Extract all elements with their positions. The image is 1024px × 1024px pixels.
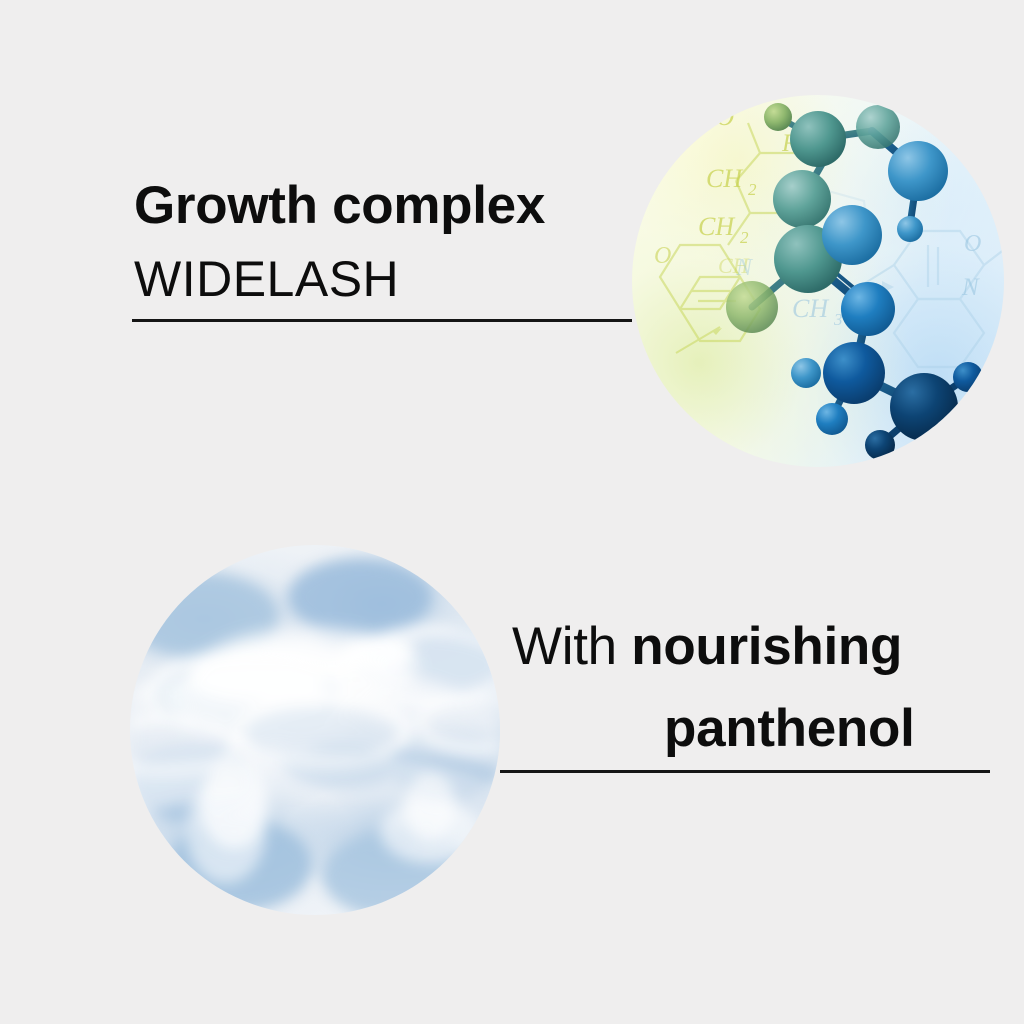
molecule-atoms — [726, 103, 983, 460]
svg-text:CH: CH — [698, 212, 735, 241]
svg-text:N: N — [735, 255, 754, 281]
headline-word-panthenol: panthenol — [664, 700, 915, 758]
lab-image-circle — [130, 545, 500, 915]
svg-text:O: O — [964, 231, 981, 257]
page-title-growth-complex: Growth complex — [134, 178, 545, 234]
molecule-image-circle: CH2 CH2 N O R' O CH CH3 — [632, 95, 1004, 467]
molecule-icon: CH2 CH2 N O R' O CH CH3 — [632, 95, 1004, 467]
svg-text:O: O — [654, 243, 671, 269]
headline-space — [617, 617, 631, 676]
headline-with-nourishing: With nourishing — [512, 618, 902, 676]
divider-rule-top — [132, 319, 632, 322]
flask-icon — [130, 545, 500, 915]
svg-text:O: O — [716, 104, 734, 131]
infographic-canvas: CH2 CH2 N O R' O CH CH3 — [0, 0, 1024, 1024]
svg-text:2: 2 — [740, 228, 749, 247]
svg-text:CH: CH — [706, 164, 743, 193]
headline-word-with: With — [512, 617, 617, 676]
svg-text:3: 3 — [833, 310, 843, 329]
svg-text:2: 2 — [748, 180, 757, 199]
divider-rule-bottom — [500, 770, 990, 773]
svg-text:N: N — [693, 106, 712, 133]
svg-text:N: N — [961, 274, 980, 301]
subtitle-widelash: WIDELASH — [134, 252, 399, 306]
headline-word-nourishing: nourishing — [631, 617, 902, 676]
svg-text:CH: CH — [792, 294, 829, 323]
